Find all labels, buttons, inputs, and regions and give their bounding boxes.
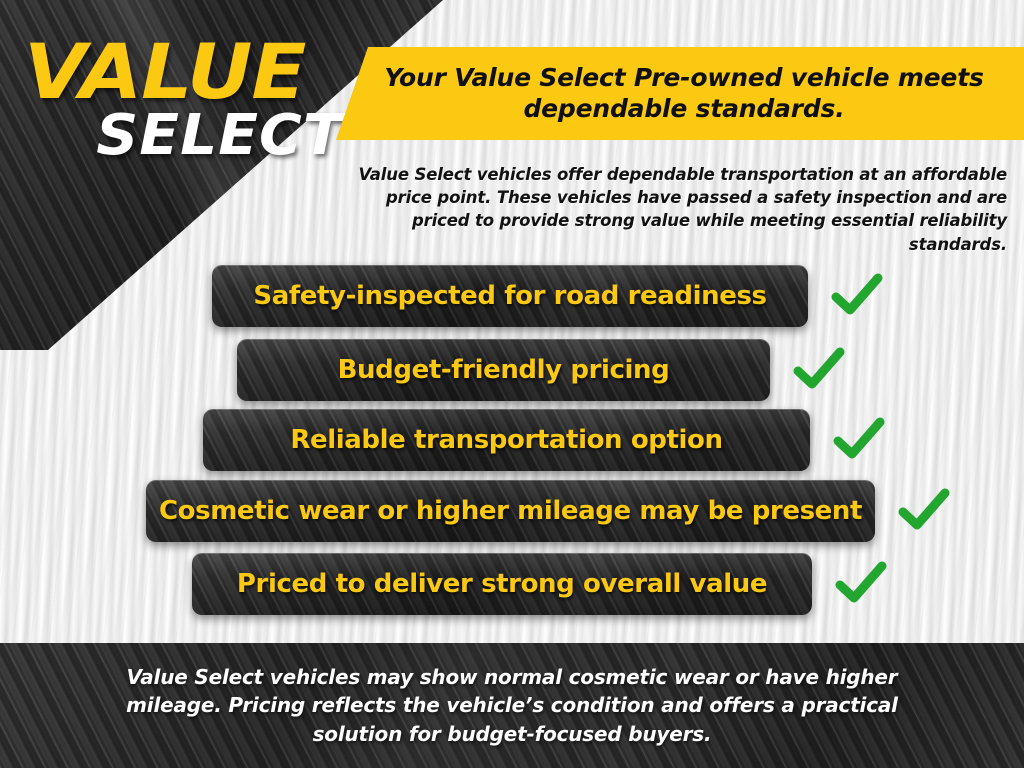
- footer-disclaimer-text: Value Select vehicles may show normal co…: [106, 663, 918, 748]
- footer-band: Value Select vehicles may show normal co…: [0, 643, 1024, 768]
- check-mark-icon: [792, 344, 846, 396]
- value-select-infographic: VALUE SELECT Your Value Select Pre-owned…: [0, 0, 1024, 768]
- feature-row-1: Safety-inspected for road readiness: [212, 265, 884, 327]
- check-mark-icon: [834, 558, 888, 610]
- logo-word-select: SELECT: [11, 108, 354, 164]
- feature-label-1: Safety-inspected for road readiness: [235, 281, 784, 311]
- feature-bar-1[interactable]: Safety-inspected for road readiness: [212, 265, 808, 327]
- headline-banner: Your Value Select Pre-owned vehicle meet…: [336, 47, 1024, 140]
- check-mark-icon: [832, 414, 886, 466]
- feature-label-5: Priced to deliver strong overall value: [219, 569, 785, 599]
- brand-logo: VALUE SELECT: [24, 36, 354, 164]
- feature-bar-2[interactable]: Budget-friendly pricing: [237, 339, 770, 401]
- feature-row-5: Priced to deliver strong overall value: [192, 553, 888, 615]
- feature-bar-5[interactable]: Priced to deliver strong overall value: [192, 553, 812, 615]
- feature-label-2: Budget-friendly pricing: [320, 355, 688, 385]
- feature-row-4: Cosmetic wear or higher mileage may be p…: [146, 480, 951, 542]
- check-mark-icon: [897, 485, 951, 537]
- intro-paragraph: Value Select vehicles offer dependable t…: [325, 163, 1007, 257]
- feature-bar-4[interactable]: Cosmetic wear or higher mileage may be p…: [146, 480, 875, 542]
- check-mark-icon: [830, 270, 884, 322]
- logo-word-value: VALUE: [24, 36, 374, 108]
- feature-label-3: Reliable transportation option: [272, 425, 740, 455]
- feature-row-3: Reliable transportation option: [203, 409, 886, 471]
- headline-text: Your Value Select Pre-owned vehicle meet…: [336, 63, 1024, 124]
- feature-label-4: Cosmetic wear or higher mileage may be p…: [146, 496, 875, 526]
- feature-bar-3[interactable]: Reliable transportation option: [203, 409, 810, 471]
- feature-row-2: Budget-friendly pricing: [237, 339, 846, 401]
